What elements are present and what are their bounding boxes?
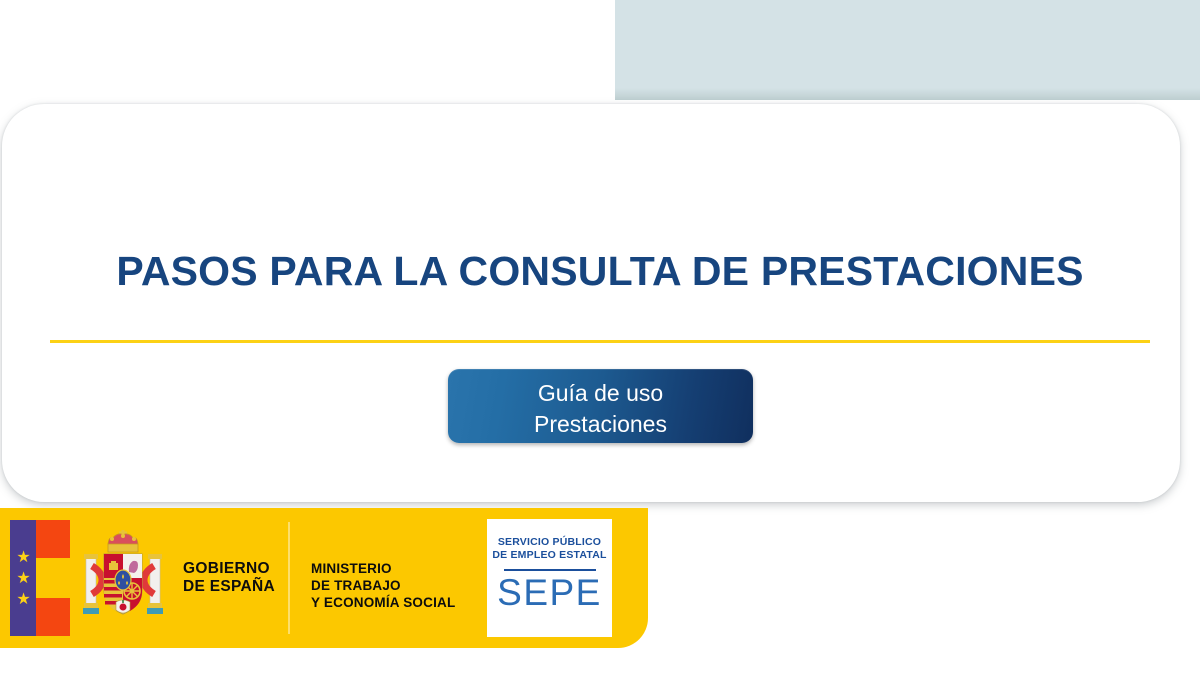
- page-title: PASOS PARA LA CONSULTA DE PRESTACIONES: [0, 248, 1200, 295]
- spain-coat-of-arms-icon: [78, 530, 168, 630]
- emblem-star-1: ★: [16, 550, 31, 565]
- ministerio-label: MINISTERIO DE TRABAJO Y ECONOMÍA SOCIAL: [311, 560, 455, 611]
- ministerio-line-3: Y ECONOMÍA SOCIAL: [311, 594, 455, 611]
- sepe-line-1: SERVICIO PÚBLICO: [487, 536, 612, 549]
- gobierno-line-2: DE ESPAÑA: [183, 578, 275, 596]
- sepe-acronym: SEPE: [487, 572, 612, 614]
- footer-divider: [288, 522, 290, 634]
- title-divider-rule: [50, 340, 1150, 343]
- slide-root: PASOS PARA LA CONSULTA DE PRESTACIONES G…: [0, 0, 1200, 675]
- spain-flag-emblem-icon: ★ ★ ★: [10, 520, 70, 636]
- emblem-star-2: ★: [16, 571, 31, 586]
- top-accent-band: [615, 0, 1200, 100]
- ministerio-line-1: MINISTERIO: [311, 560, 455, 577]
- guia-de-uso-prestaciones-button[interactable]: Guía de uso Prestaciones: [448, 369, 753, 443]
- cta-line-1: Guía de uso: [448, 378, 753, 409]
- sepe-divider: [504, 569, 596, 571]
- gobierno-line-1: GOBIERNO: [183, 560, 275, 578]
- cta-line-2: Prestaciones: [448, 409, 753, 440]
- gobierno-de-espana-label: GOBIERNO DE ESPAÑA: [183, 560, 275, 596]
- ministerio-line-2: DE TRABAJO: [311, 577, 455, 594]
- sepe-logo: SERVICIO PÚBLICO DE EMPLEO ESTATAL SEPE: [487, 519, 612, 637]
- emblem-red-block-top: [36, 520, 70, 558]
- sepe-line-2: DE EMPLEO ESTATAL: [487, 549, 612, 562]
- emblem-star-3: ★: [16, 592, 31, 607]
- emblem-red-block-bottom: [36, 598, 70, 636]
